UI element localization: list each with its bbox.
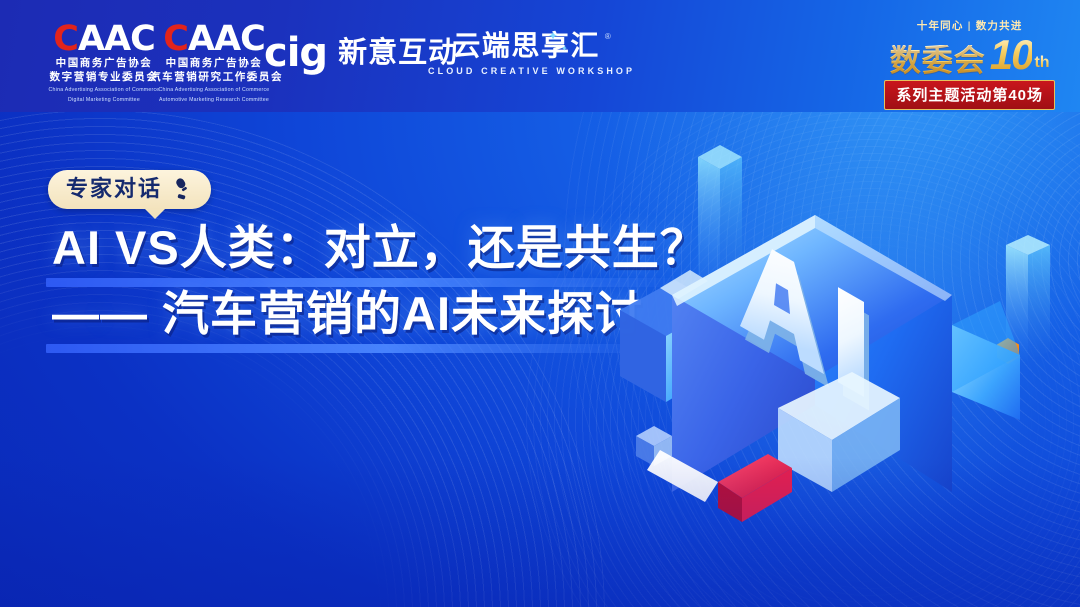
caac-en-line2: Automotive Marketing Research Committee xyxy=(150,97,278,105)
expert-dialogue-badge: 专家对话 xyxy=(48,170,211,209)
logo-caac-digital-marketing: CAAC 中国商务广告协会 数字营销专业委员会 China Advertisin… xyxy=(44,22,164,104)
cloud-en-name: CLOUD CREATIVE WORKSHOP xyxy=(428,66,635,76)
caac-initial-c: C xyxy=(53,19,78,59)
anniversary-ordinal: th xyxy=(1034,55,1049,71)
caac-en-line1: China Advertising Association of Commerc… xyxy=(150,87,278,95)
cig-wordmark: cig xyxy=(264,33,327,73)
caac-cn-line1: 中国商务广告协会 xyxy=(44,57,164,71)
cloud-cn-name: 云端思享汇 xyxy=(452,32,600,60)
badge-tail xyxy=(144,208,166,219)
anniversary-number: 10 xyxy=(990,34,1033,76)
poster-canvas: CAAC 中国商务广告协会 数字营销专业委员会 China Advertisin… xyxy=(0,0,1080,607)
anniversary-lockup: 十年同心|数力共进 数委会 10 th 系列主题活动第40场 xyxy=(884,18,1055,110)
expert-dialogue-label: 专家对话 xyxy=(66,178,162,200)
registered-trademark-icon: ® xyxy=(605,32,611,41)
caac-cn-line2: 数字营销专业委员会 xyxy=(44,71,164,85)
caac-wordmark: CAAC xyxy=(150,22,278,57)
caac-wordmark: CAAC xyxy=(44,22,164,57)
tagline-left: 十年同心 xyxy=(917,20,964,32)
ai-cube-svg xyxy=(600,120,1080,550)
anniversary-org-short: 数委会 xyxy=(890,45,986,76)
sparkle-small-icon: ✦ xyxy=(561,44,568,53)
tagline-separator: | xyxy=(968,20,972,32)
header-logo-bar: CAAC 中国商务广告协会 数字营销专业委员会 China Advertisin… xyxy=(0,0,1080,112)
logo-cloud-creative-workshop: 云端思享汇 ® CLOUD CREATIVE WORKSHOP ✦ ✦ xyxy=(428,32,635,76)
series-banner: 系列主题活动第40场 xyxy=(884,80,1055,110)
caac-letters: AAC xyxy=(78,19,155,59)
caac-cn-line2: 汽车营销研究工作委员会 xyxy=(150,71,278,85)
logo-caac-automotive-marketing: CAAC 中国商务广告协会 汽车营销研究工作委员会 China Advertis… xyxy=(150,22,278,104)
caac-en-line1: China Advertising Association of Commerc… xyxy=(44,87,164,95)
caac-letters: AAC xyxy=(188,19,265,59)
caac-initial-c: C xyxy=(163,19,188,59)
title-underline-2 xyxy=(46,344,666,353)
anniversary-mark: 数委会 10 th xyxy=(884,34,1055,76)
title-underline-1 xyxy=(46,278,686,287)
microphone-icon xyxy=(169,177,195,201)
sparkle-icon: ✦ xyxy=(548,29,558,43)
ai-cube-graphic xyxy=(600,120,1080,550)
caac-en-line2: Digital Marketing Committee xyxy=(44,97,164,105)
cloud-logo-top-row: 云端思享汇 ® xyxy=(428,32,635,60)
caac-cn-line1: 中国商务广告协会 xyxy=(150,57,278,71)
